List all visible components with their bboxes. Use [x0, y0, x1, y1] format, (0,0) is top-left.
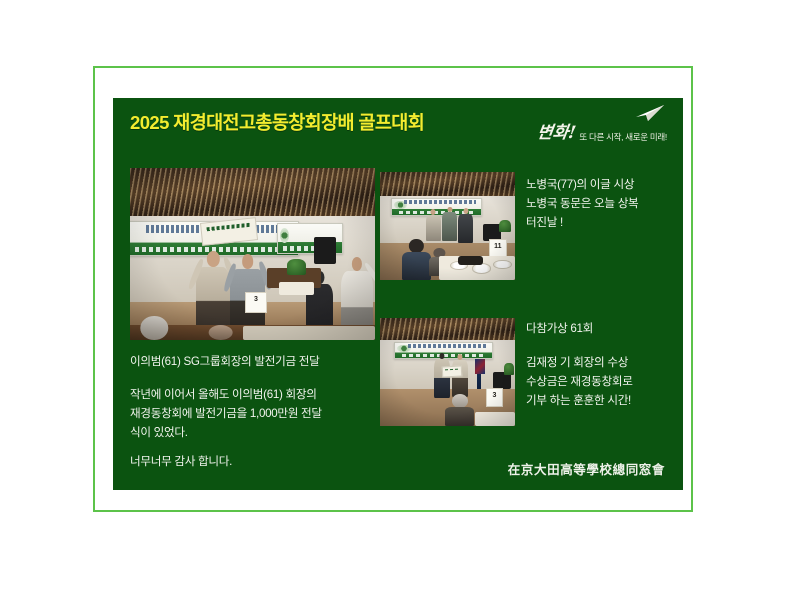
photo-bottom-table-card: 3 — [486, 388, 503, 406]
caption-left-thanks: 너무너무 감사 합니다. — [130, 453, 232, 472]
caption-right-mid-title: 다참가상 61회 — [526, 320, 593, 339]
poster-card: 2025 재경대전고총동창회장배 골프대회 변화! 또 다른 시작, 새로운 미… — [113, 98, 683, 490]
caption-left-body: 작년에 이어서 올해도 이의범(61) 회장의 재경동창회에 발전기금을 1,0… — [130, 386, 322, 442]
poster-header: 2025 재경대전고총동창회장배 골프대회 변화! 또 다른 시작, 새로운 미… — [113, 98, 683, 153]
slogan-tagline-text: 또 다른 시작, 새로운 미래! — [579, 133, 667, 142]
paper-plane-icon — [635, 105, 665, 122]
caption-right-mid-body: 김재정 기 회장의 수상 수상금은 재경동창회로 기부 하는 훈훈한 시간! — [526, 354, 633, 410]
organization-signature: 在京大田高等學校總同窓會 — [508, 459, 665, 478]
page-title: 2025 재경대전고총동창회장배 골프대회 — [130, 109, 424, 135]
slogan-lockup: 변화! 또 다른 시작, 새로운 미래! — [537, 108, 667, 144]
photo-main: 3 — [130, 168, 375, 340]
photo-main-floor-card: 3 — [245, 292, 267, 313]
slogan-brush-text: 변화! — [535, 125, 576, 142]
photo-bottom: 3 — [380, 318, 515, 426]
photo-top: 11 — [380, 172, 515, 280]
caption-left-title: 이의범(61) SG그룹회장의 발전기금 전달 — [130, 353, 319, 372]
caption-right-top: 노병국(77)의 이글 시상 노병국 동문은 오늘 상복 터진날 ! — [526, 176, 638, 232]
